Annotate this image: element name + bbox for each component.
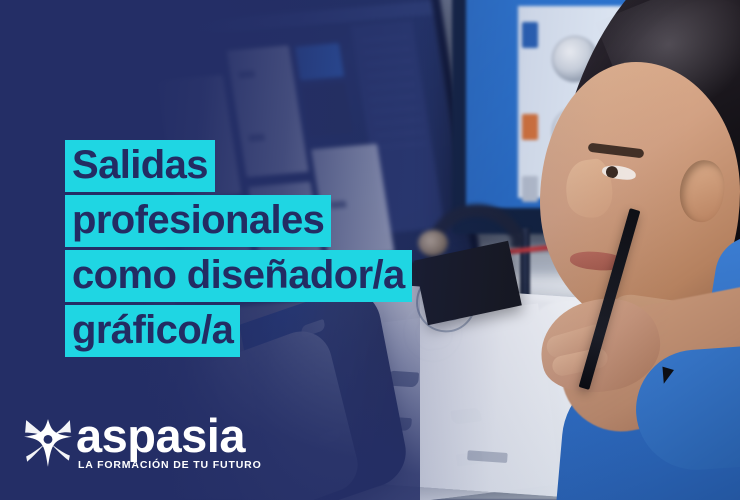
star-burst-icon [22, 417, 74, 469]
headline-line-2: profesionales [65, 195, 331, 247]
logo-text-block: aspasia LA FORMACIÓN DE TU FUTURO [76, 414, 262, 472]
promo-banner: Salidas profesionales como diseñador/a g… [0, 0, 740, 500]
headline-line-3: como diseñador/a [65, 250, 412, 302]
logo-tagline: LA FORMACIÓN DE TU FUTURO [78, 459, 262, 472]
headline-line-1: Salidas [65, 140, 215, 192]
page-title: Salidas profesionales como diseñador/a g… [65, 140, 412, 357]
logo-wordmark: aspasia [76, 414, 262, 458]
aspasia-logo[interactable]: aspasia LA FORMACIÓN DE TU FUTURO [22, 414, 262, 472]
headline-line-4: gráfico/a [65, 305, 240, 357]
